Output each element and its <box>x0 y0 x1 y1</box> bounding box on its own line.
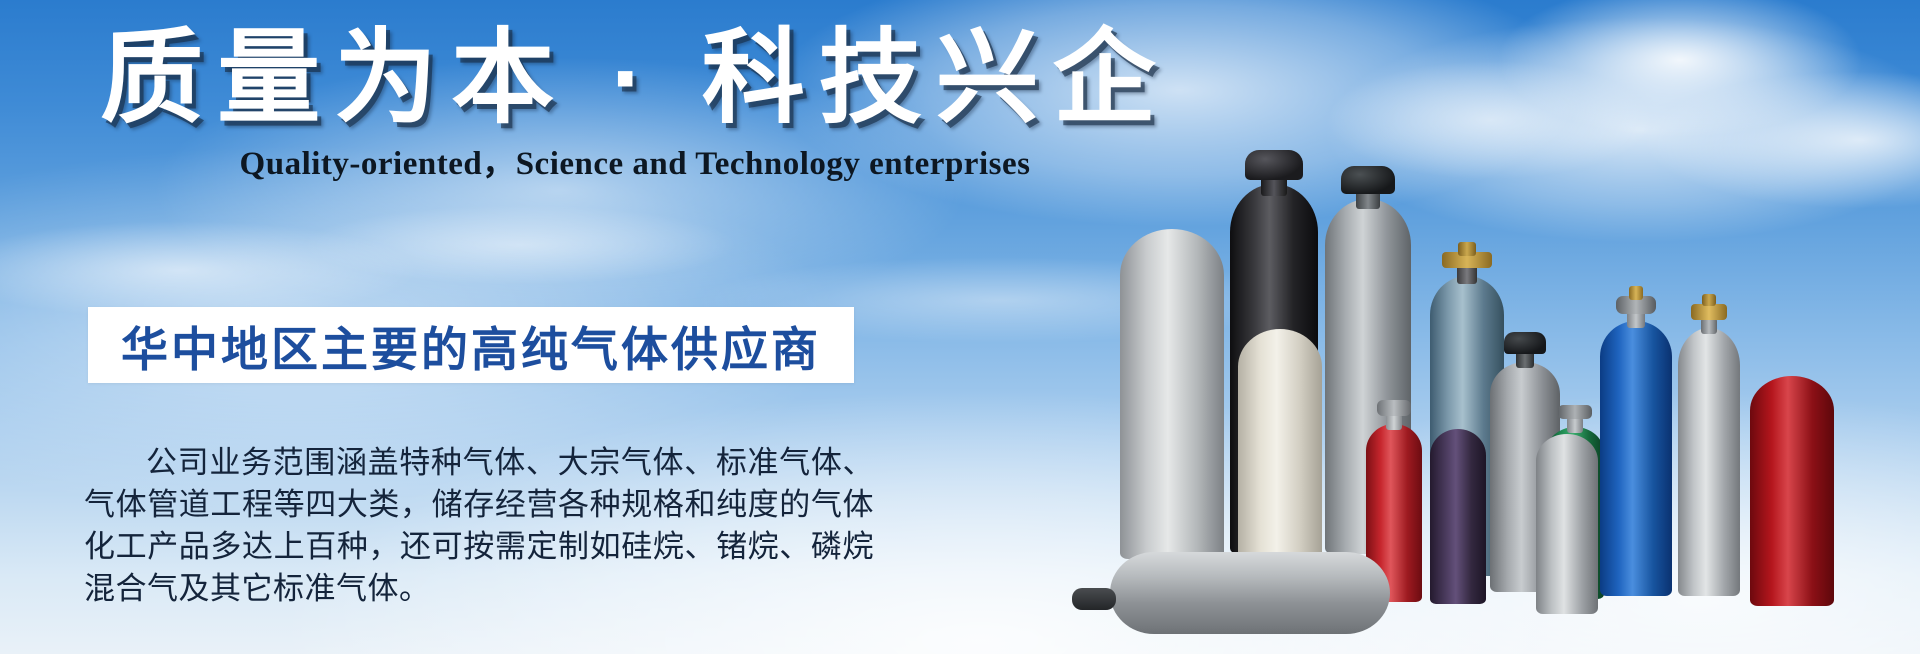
cylinder-horizontal-grey <box>1110 552 1390 634</box>
cylinder-aluminum <box>1678 296 1740 596</box>
cylinder-aluminum-short <box>1536 434 1598 614</box>
cylinder-darkred-wide <box>1750 376 1834 606</box>
cylinder-blue-tall <box>1600 286 1672 596</box>
cylinder-purple-small <box>1430 429 1486 604</box>
cylinder-horizontal-valve <box>1072 588 1116 610</box>
tagline-box: 华中地区主要的高纯气体供应商 <box>88 307 854 383</box>
tagline-text: 华中地区主要的高纯气体供应商 <box>121 311 821 380</box>
page-subtitle: Quality-oriented，Science and Technology … <box>0 136 1270 184</box>
body-paragraph: 公司业务范围涵盖特种气体、大宗气体、标准气体、气体管道工程等四大类，储存经营各种… <box>84 442 874 610</box>
cylinder-cap <box>1245 150 1303 180</box>
cylinder-white-large <box>1120 229 1224 559</box>
promotional-banner: 质量为本 · 科技兴企 Quality-oriented，Science and… <box>0 0 1920 654</box>
page-title: 质量为本 · 科技兴企 <box>0 22 1270 134</box>
gas-cylinder-group <box>1130 0 1920 654</box>
